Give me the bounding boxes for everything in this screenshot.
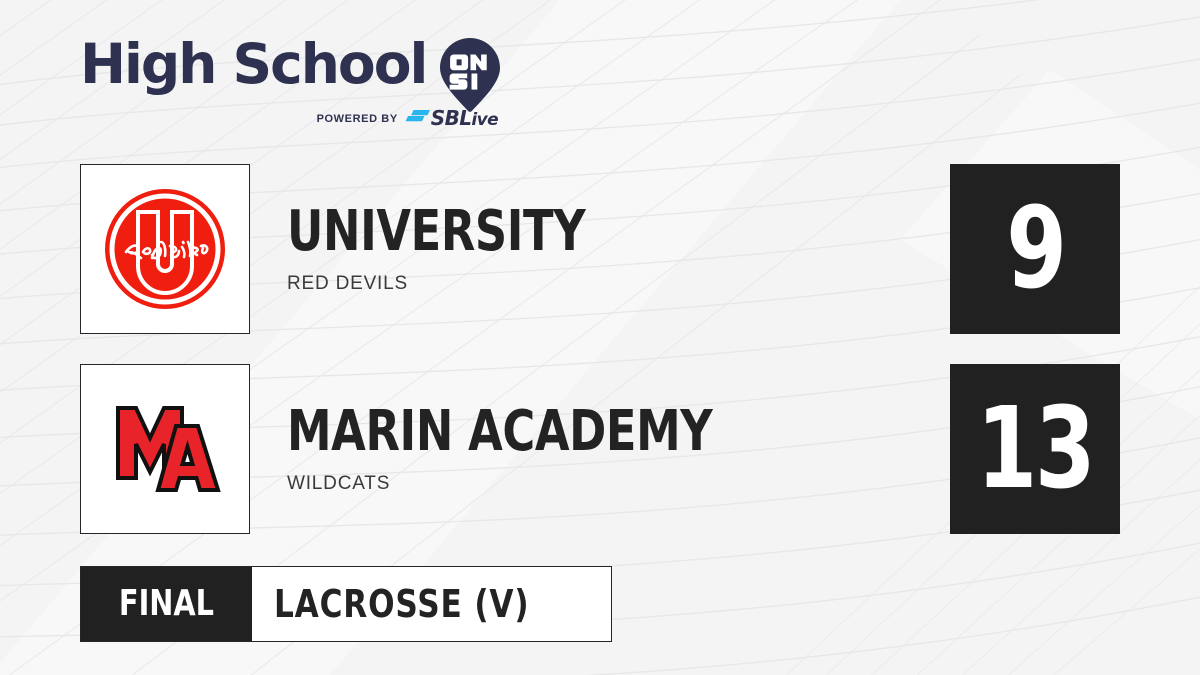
sport-label: LACROSSE (V) — [274, 585, 529, 623]
team-mascot: RED DEVILS — [287, 273, 660, 295]
team-text-block: MARIN ACADEMY WILDCATS — [287, 364, 819, 534]
team-text-block: UNIVERSITY RED DEVILS — [287, 164, 660, 334]
brand-header: High School POWERED BY — [80, 36, 510, 132]
brand-wordmark: High School — [80, 36, 510, 112]
sblive-logo: SBLive — [405, 108, 498, 130]
team-logo-box — [80, 364, 250, 534]
team-score: 9 — [1006, 193, 1064, 305]
marin-academy-wildcats-logo-icon — [102, 386, 228, 512]
powered-by-lockup: POWERED BY SBLive — [317, 108, 498, 130]
brand-wordmark-text: High School — [80, 36, 426, 92]
sblive-wordmark: SBLive — [431, 108, 498, 130]
status-state-label: FINAL — [119, 586, 214, 622]
sblive-s-mark — [405, 109, 431, 129]
powered-by-label: POWERED BY — [317, 113, 398, 125]
team-mascot: WILDCATS — [287, 473, 819, 495]
team-name: MARIN ACADEMY — [287, 403, 712, 461]
game-status-bar: FINAL LACROSSE (V) — [80, 566, 612, 642]
university-red-devils-logo-icon — [102, 186, 228, 312]
scoreboard-card: High School POWERED BY — [0, 0, 1200, 675]
sblive-word-upper: SBL — [431, 106, 472, 130]
sport-label-box: LACROSSE (V) — [252, 567, 611, 641]
team-score: 13 — [977, 393, 1094, 505]
sblive-word-lower: ive — [471, 110, 498, 130]
team-score-box: 13 — [950, 364, 1120, 534]
on-si-pin-icon — [440, 38, 500, 112]
team-logo-box — [80, 164, 250, 334]
team-name: UNIVERSITY — [287, 203, 585, 261]
status-badge: FINAL — [81, 567, 252, 641]
team-row: UNIVERSITY RED DEVILS 9 — [80, 164, 1120, 334]
team-row: MARIN ACADEMY WILDCATS 13 — [80, 364, 1120, 534]
team-score-box: 9 — [950, 164, 1120, 334]
